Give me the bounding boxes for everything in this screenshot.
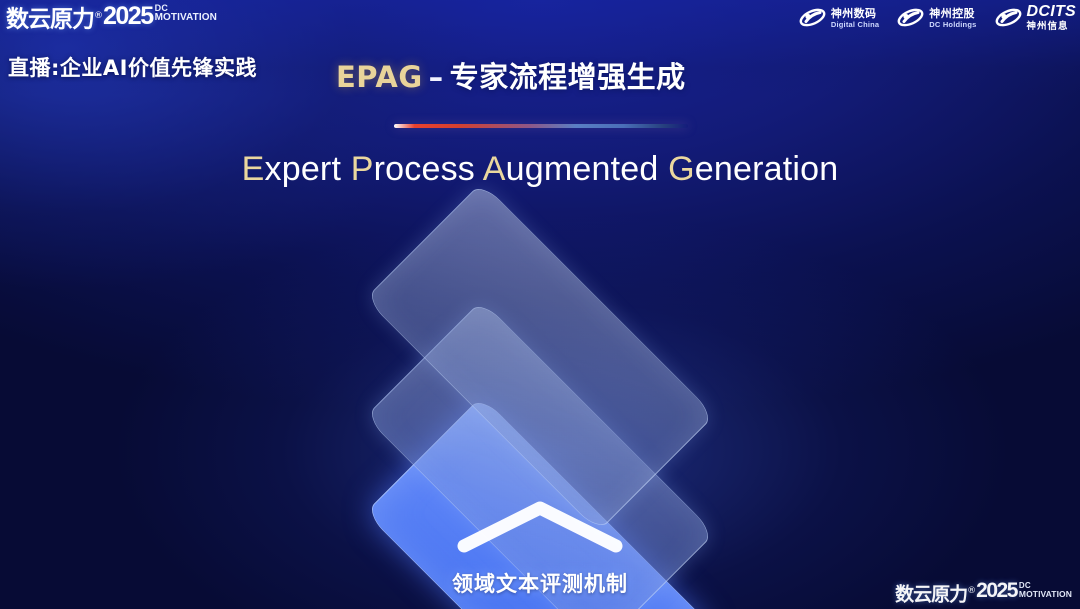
swoosh-icon <box>897 7 924 28</box>
partner-name-cn: 神州信息 <box>1027 22 1077 32</box>
slide-canvas: 数云原力® 2025 DC MOTIVATION 直播:企业AI价值先锋实践 神… <box>0 0 1080 609</box>
partner-logo-text: 神州数码 Digital China <box>831 8 879 29</box>
brand-tagline: DC MOTIVATION <box>155 4 217 22</box>
subtitle-part: xpert <box>265 150 351 188</box>
slide-subtitle: Expert Process Augmented Generation <box>0 150 1080 189</box>
title-acronym: EPAG <box>336 60 423 94</box>
swoosh-icon <box>995 7 1022 28</box>
brand-logo-bottom-right: 数云原力® 2025 DC MOTIVATION <box>895 580 1072 605</box>
partner-logo-text: 神州控股 DC Holdings <box>929 8 976 29</box>
subtitle-part: ugmented <box>506 150 668 188</box>
subtitle-part: G <box>668 150 695 188</box>
brand-tagline-line2: MOTIVATION <box>155 13 217 22</box>
subtitle-part: A <box>483 150 506 188</box>
registered-mark: ® <box>967 586 975 596</box>
brand-name-cn: 数云原力® <box>6 3 102 33</box>
brand-tagline: DC MOTIVATION <box>1019 581 1072 599</box>
brand-name-cn: 数云原力® <box>895 580 975 605</box>
title-dash: – <box>423 60 450 94</box>
brand-logo-top-left: 数云原力® 2025 DC MOTIVATION <box>6 3 217 33</box>
partner-logo-dc-holdings: 神州控股 DC Holdings <box>897 7 976 28</box>
brand-year: 2025 <box>976 580 1017 602</box>
livestream-label: 直播:企业AI价值先锋实践 <box>8 52 257 82</box>
partner-name-cn: 神州控股 <box>929 8 976 19</box>
partner-logo-row: 神州数码 Digital China 神州控股 DC Holdings <box>799 4 1076 32</box>
brand-tagline-line2: MOTIVATION <box>1019 590 1072 599</box>
registered-mark: ® <box>94 11 102 21</box>
partner-logo-dcits: DCITS 神州信息 <box>995 4 1077 32</box>
subtitle-part: eneration <box>695 150 839 188</box>
subtitle-part: P <box>351 150 374 188</box>
partner-name-en: DC Holdings <box>929 21 976 29</box>
partner-name-en: DCITS <box>1027 4 1077 20</box>
title-divider-rule <box>394 124 688 128</box>
partner-logo-digital-china: 神州数码 Digital China <box>799 7 879 28</box>
layered-stack-diagram: 领域文本评测机制 Dynamic MOE 长文本记忆 三类语义建模模块 <box>285 228 795 568</box>
slide-title: EPAG–专家流程增强生成 <box>336 54 686 96</box>
brand-year: 2025 <box>103 3 153 29</box>
subtitle-part: E <box>242 150 265 188</box>
swoosh-icon <box>799 7 826 28</box>
partner-logo-text: DCITS 神州信息 <box>1027 4 1077 32</box>
subtitle-part: rocess <box>374 150 483 188</box>
partner-name-cn: 神州数码 <box>831 8 879 19</box>
title-chinese: 专家流程增强生成 <box>450 60 686 94</box>
partner-name-en: Digital China <box>831 21 879 29</box>
